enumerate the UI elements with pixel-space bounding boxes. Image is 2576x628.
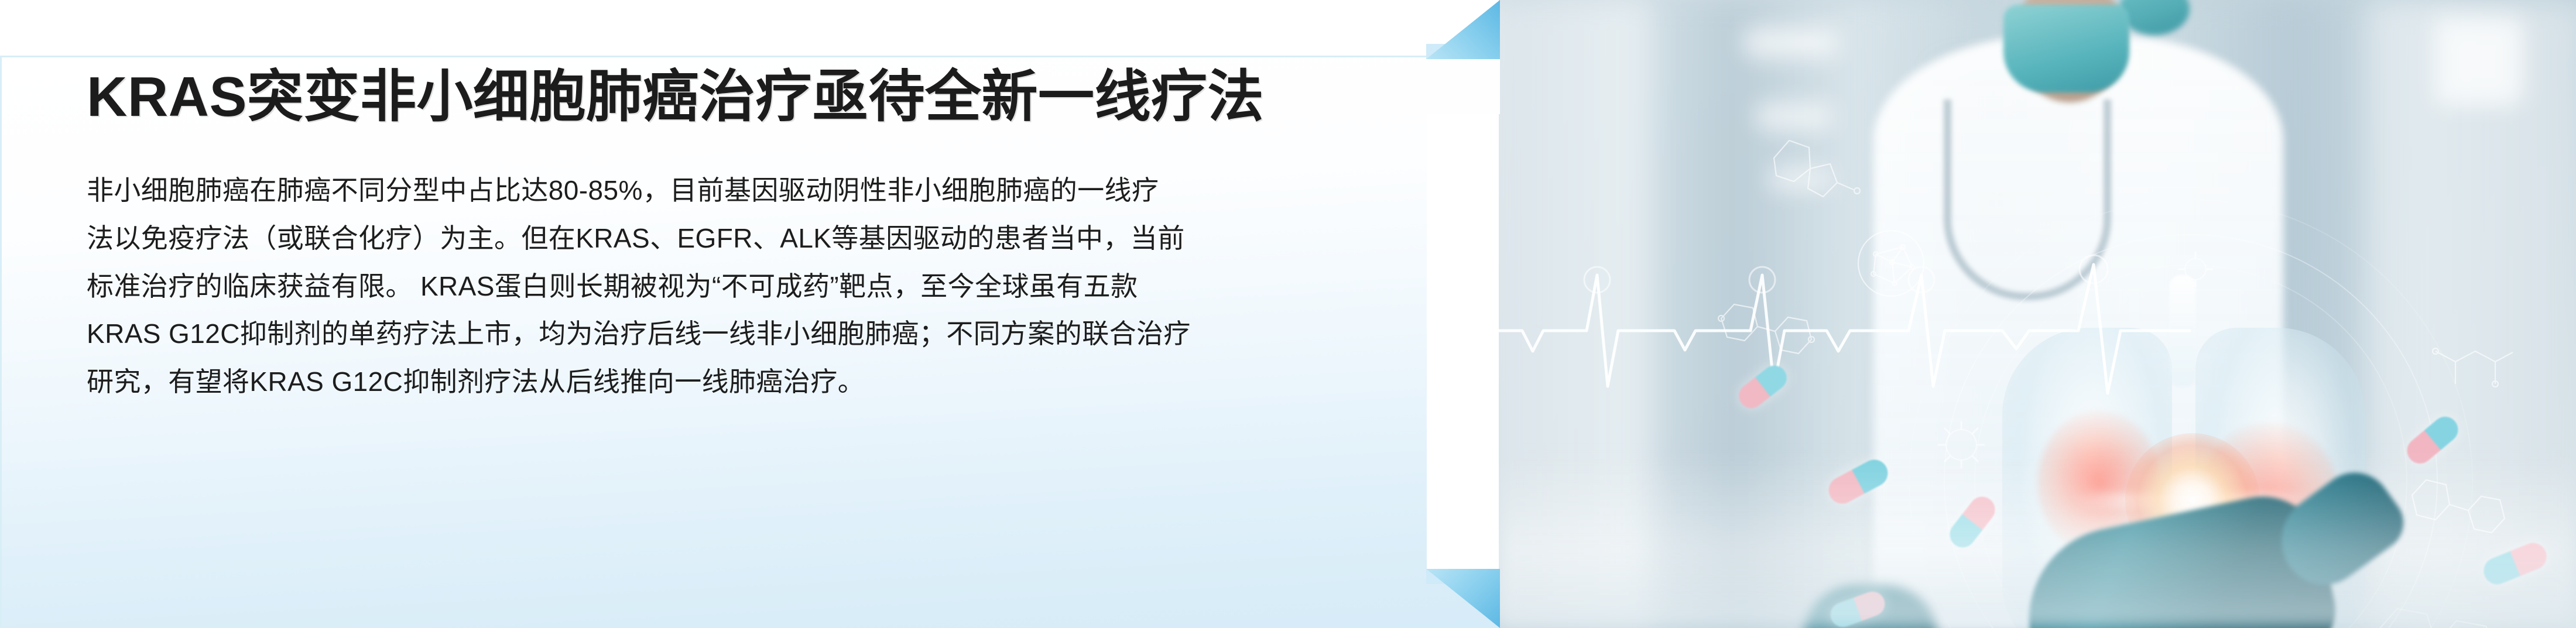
page-title: KRAS突变非小细胞肺癌治疗亟待全新一线疗法	[87, 67, 1375, 127]
infographic-banner: KRAS突变非小细胞肺癌治疗亟待全新一线疗法 非小细胞肺癌在肺癌不同分型中占比达…	[0, 0, 2576, 628]
article-summary: 非小细胞肺癌在肺癌不同分型中占比达80-85%，目前基因驱动阴性非小细胞肺癌的一…	[87, 167, 1328, 406]
molecule-diagram	[2433, 348, 2513, 387]
hero-image	[1499, 0, 2576, 628]
summary-line: 法以免疫疗法（或联合化疗）为主。但在KRAS、EGFR、ALK等基因驱动的患者当…	[87, 215, 1328, 263]
molecule-diagram	[1718, 304, 1814, 354]
floor-reflection	[1499, 452, 2576, 628]
summary-line: 研究，有望将KRAS G12C抑制剂疗法从后线推向一线肺癌治疗。	[87, 358, 1328, 406]
molecule-diagram	[1774, 140, 1860, 197]
summary-line: 非小细胞肺癌在肺癌不同分型中占比达80-85%，目前基因驱动阴性非小细胞肺癌的一…	[87, 167, 1328, 215]
summary-line: KRAS G12C抑制剂的单药疗法上市，均为治疗后线一线非小细胞肺癌；不同方案的…	[87, 310, 1328, 358]
brain-network-node	[1858, 231, 1924, 296]
summary-line: 标准治疗的临床获益有限。 KRAS蛋白则长期被视为“不可成药”靶点，至今全球虽有…	[87, 263, 1328, 311]
article-content: KRAS突变非小细胞肺癌治疗亟待全新一线疗法 非小细胞肺癌在肺癌不同分型中占比达…	[87, 67, 1375, 406]
